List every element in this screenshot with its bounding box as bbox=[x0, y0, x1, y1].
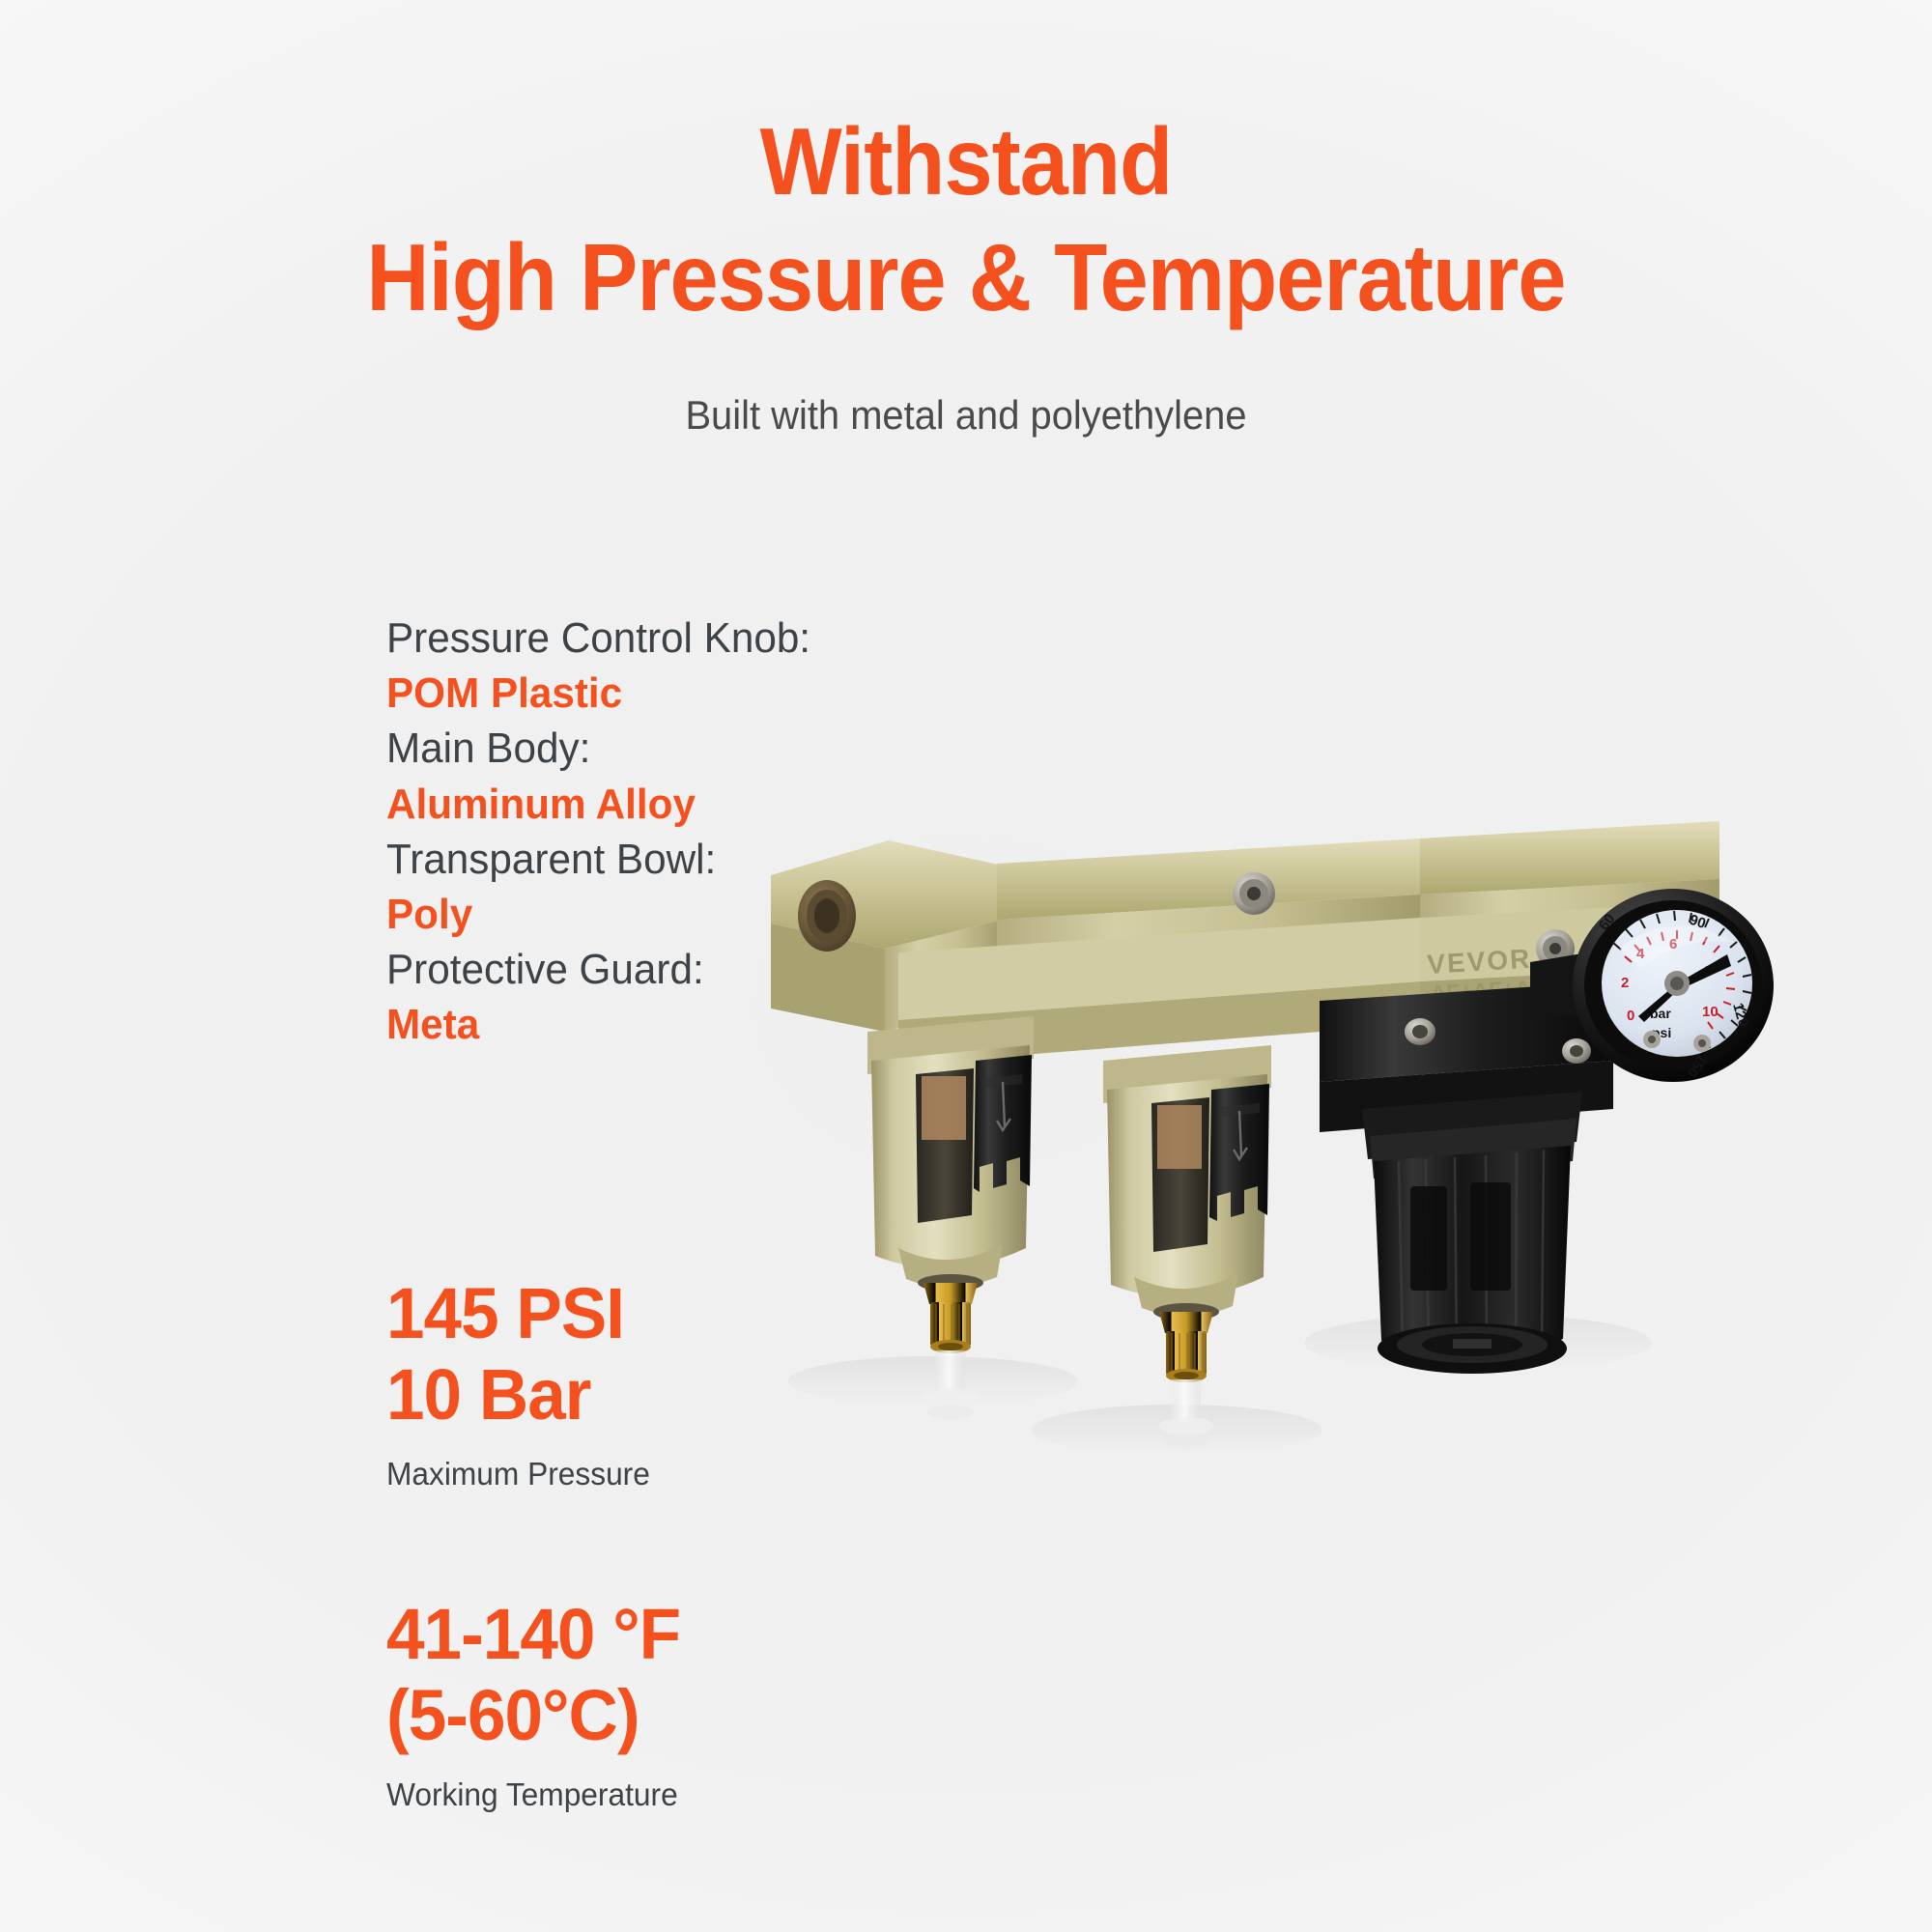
pressure-value-psi: 145 PSI bbox=[386, 1273, 650, 1354]
infographic-canvas: Withstand High Pressure & Temperature Bu… bbox=[0, 0, 1932, 1932]
manifold-screw-1 bbox=[1233, 872, 1275, 915]
stat-max-pressure: 145 PSI 10 Bar Maximum Pressure bbox=[386, 1273, 661, 1492]
brand-text: VEVOR bbox=[1427, 944, 1533, 980]
gauge-bar-2: 2 bbox=[1621, 975, 1629, 991]
product-image: VEVOR AF+AF+AR3000 Max.Pressure: 145psi/… bbox=[744, 802, 1787, 1594]
product-illustration: VEVOR AF+AF+AR3000 Max.Pressure: 145psi/… bbox=[744, 802, 1787, 1594]
temperature-value-f: 41-140 °F bbox=[386, 1594, 680, 1675]
temperature-caption: Working Temperature bbox=[386, 1776, 680, 1813]
gauge-bar-0: 0 bbox=[1627, 1008, 1634, 1024]
stat-working-temperature: 41-140 °F (5-60°C) Working Temperature bbox=[386, 1594, 693, 1813]
regulator-screw-2 bbox=[1562, 1038, 1591, 1064]
filter-unit-middle bbox=[1103, 1045, 1271, 1449]
temperature-value-c: (5-60°C) bbox=[386, 1675, 680, 1756]
headline-line-2: High Pressure & Temperature bbox=[77, 230, 1855, 325]
pressure-caption: Maximum Pressure bbox=[386, 1456, 650, 1492]
filter-element-left bbox=[922, 1076, 966, 1140]
spec-label-body: Main Body: bbox=[386, 721, 906, 776]
regulator-unit bbox=[1320, 981, 1613, 1374]
subtitle: Built with metal and polyethylene bbox=[48, 392, 1884, 439]
drain-valve-middle bbox=[1159, 1312, 1213, 1382]
regulator-screw-1 bbox=[1405, 1018, 1435, 1045]
filter-element-middle bbox=[1157, 1105, 1202, 1169]
drain-tube-middle bbox=[1171, 1379, 1202, 1422]
spec-label-knob: Pressure Control Knob: bbox=[386, 611, 906, 666]
spec-value-knob: POM Plastic bbox=[386, 666, 906, 721]
headline-line-1: Withstand bbox=[77, 114, 1855, 209]
gauge-bar-10: 10 bbox=[1702, 1004, 1719, 1020]
header: Withstand High Pressure & Temperature bbox=[0, 114, 1932, 325]
pressure-value-bar: 10 Bar bbox=[386, 1354, 650, 1435]
drain-tube-left bbox=[935, 1350, 966, 1393]
drain-valve-left bbox=[923, 1283, 978, 1353]
